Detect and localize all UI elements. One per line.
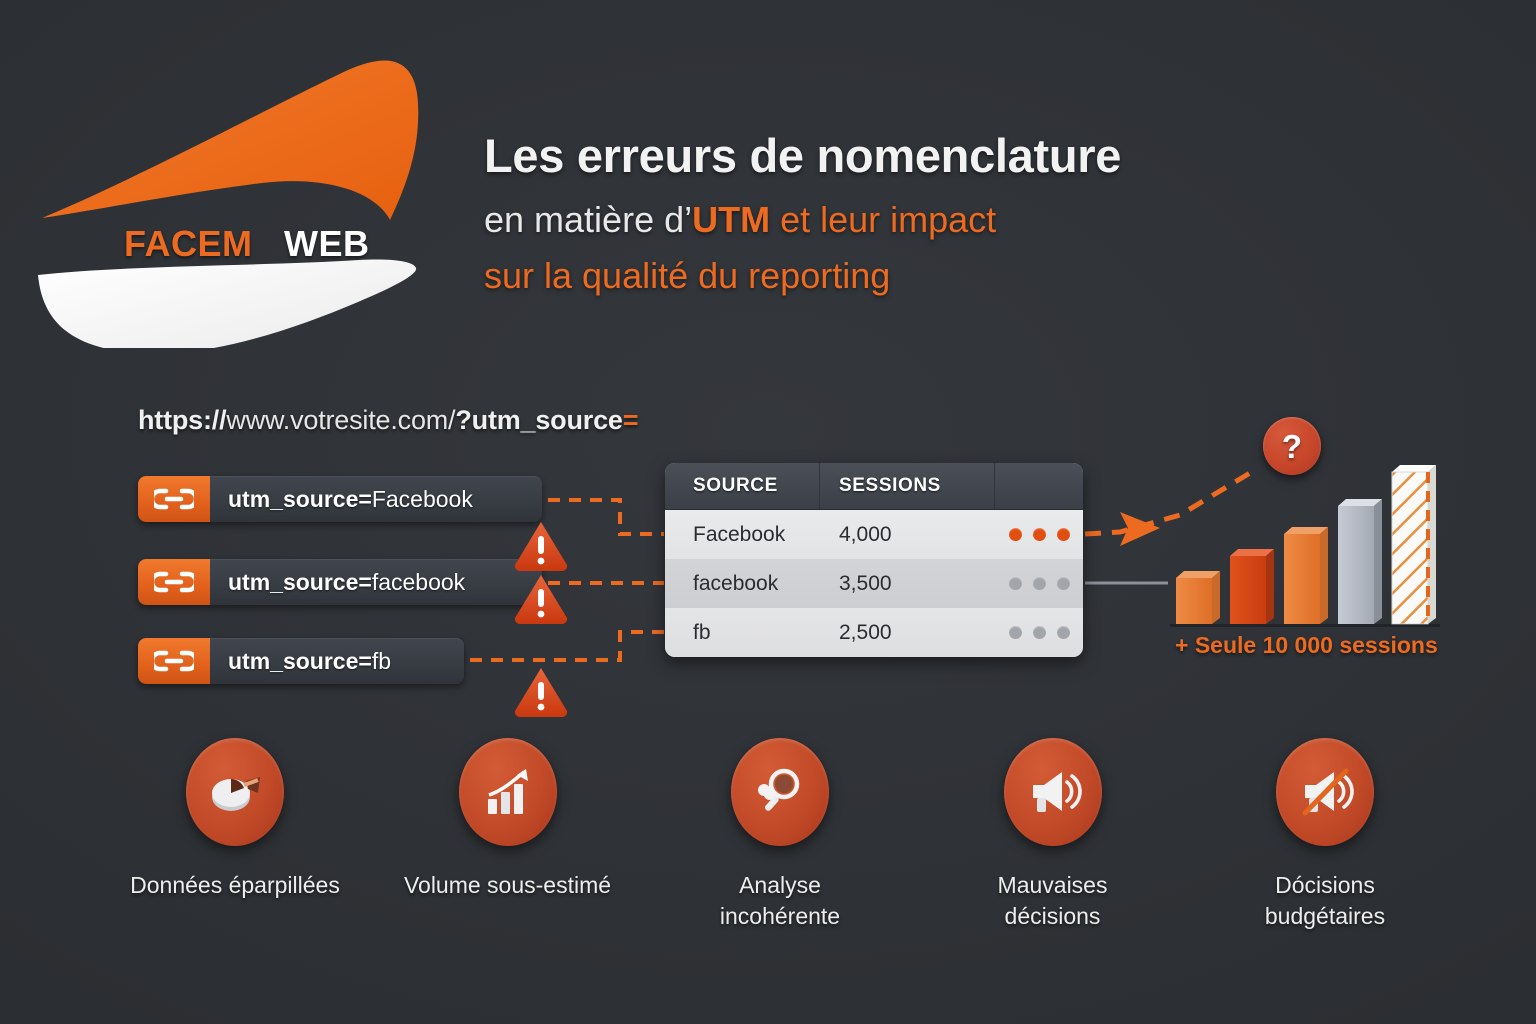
utm-keyword: UTM bbox=[692, 199, 770, 240]
url-equals: = bbox=[623, 405, 639, 435]
magnifier-puzzle-icon bbox=[731, 738, 829, 846]
consequence-label-1: Volume sous-estimé bbox=[404, 870, 611, 901]
megaphone-icon bbox=[1004, 738, 1102, 846]
utm-pill-label-0: utm_source=Facebook bbox=[210, 476, 489, 522]
cell-sessions: 3,500 bbox=[820, 572, 995, 596]
consequences-row: Données éparpillées Volume sous-estimé A… bbox=[120, 738, 1440, 948]
table-row[interactable]: facebook 3,500 bbox=[665, 559, 1083, 608]
row-dots-icon bbox=[1009, 577, 1070, 590]
utm-pill-label-1: utm_source=facebook bbox=[210, 559, 481, 605]
utm-pill-0[interactable]: utm_source=Facebook bbox=[138, 476, 542, 522]
consequence-item-4[interactable]: Dócisionsbudgétaires bbox=[1210, 738, 1440, 948]
subtitle-prefix: en matière d’ bbox=[484, 199, 692, 240]
chart-caption: + Seule 10 000 sessions bbox=[1175, 632, 1505, 659]
cell-actions bbox=[995, 626, 1083, 639]
brand-name-primary: FACEM bbox=[124, 223, 253, 264]
brand-wordmark: FACEM WEB bbox=[124, 223, 370, 265]
utm-pill-key-2: utm_source= bbox=[228, 648, 372, 675]
link-icon bbox=[138, 559, 210, 605]
cell-sessions: 4,000 bbox=[820, 523, 995, 547]
link-icon bbox=[138, 638, 210, 684]
row-dots-icon bbox=[1009, 528, 1070, 541]
consequence-label-2: Analyseincohérente bbox=[720, 870, 840, 932]
dashed-arrow-right-icon bbox=[1120, 512, 1160, 546]
brand-logo: FACEM WEB bbox=[18, 48, 438, 348]
sessions-bar-chart bbox=[1160, 448, 1460, 633]
utm-pill-value-0: Facebook bbox=[372, 486, 473, 513]
consequence-label-3: Mauvaisesdécisions bbox=[998, 870, 1108, 932]
bar-chart-svg bbox=[1160, 448, 1460, 633]
column-header-sessions: SESSIONS bbox=[820, 463, 995, 509]
sessions-table[interactable]: SOURCE SESSIONS Facebook 4,000 facebook … bbox=[665, 463, 1083, 657]
column-header-source: SOURCE bbox=[665, 463, 820, 509]
utm-pill-key-1: utm_source= bbox=[228, 569, 372, 596]
row-dots-icon bbox=[1009, 626, 1070, 639]
connector-pill-3 bbox=[470, 632, 664, 660]
megaphone-muted-icon bbox=[1276, 738, 1374, 846]
brand-name-secondary: WEB bbox=[284, 223, 370, 264]
url-query-key: ?utm_source bbox=[455, 405, 622, 435]
utm-pill-value-2: fb bbox=[372, 648, 391, 675]
warning-triangle-icon bbox=[512, 519, 570, 571]
warning-triangle-icon bbox=[512, 572, 570, 624]
link-icon bbox=[138, 476, 210, 522]
cell-actions bbox=[995, 577, 1083, 590]
consequence-item-3[interactable]: Mauvaisesdécisions bbox=[938, 738, 1168, 948]
url-host: www.votresite.com/ bbox=[226, 405, 455, 435]
table-row[interactable]: fb 2,500 bbox=[665, 608, 1083, 657]
utm-pill-label-2: utm_source=fb bbox=[210, 638, 407, 684]
page-subtitle: en matière d’UTM et leur impact bbox=[484, 197, 1304, 243]
utm-pill-value-1: facebook bbox=[372, 569, 465, 596]
column-header-actions bbox=[995, 463, 1083, 509]
utm-pill-2[interactable]: utm_source=fb bbox=[138, 638, 464, 684]
cell-source: Facebook bbox=[665, 523, 820, 547]
url-scheme: https:// bbox=[138, 405, 226, 435]
headline-block: Les erreurs de nomenclature en matière d… bbox=[484, 130, 1304, 299]
cell-sessions: 2,500 bbox=[820, 621, 995, 645]
consequence-item-0[interactable]: Données éparpillées bbox=[120, 738, 350, 948]
consequence-label-4: Dócisionsbudgétaires bbox=[1265, 870, 1385, 932]
consequence-label-0: Données éparpillées bbox=[130, 870, 340, 901]
subtitle-suffix: et leur impact bbox=[770, 199, 996, 240]
page-title: Les erreurs de nomenclature bbox=[484, 130, 1304, 183]
table-header-row: SOURCE SESSIONS bbox=[665, 463, 1083, 510]
cell-source: fb bbox=[665, 621, 820, 645]
example-url: https://www.votresite.com/?utm_source= bbox=[138, 405, 638, 436]
cell-actions bbox=[995, 528, 1083, 541]
facem-web-swoosh-logo bbox=[18, 48, 438, 348]
consequence-item-1[interactable]: Volume sous-estimé bbox=[393, 738, 623, 948]
utm-pill-1[interactable]: utm_source=facebook bbox=[138, 559, 542, 605]
consequence-item-2[interactable]: Analyseincohérente bbox=[665, 738, 895, 948]
cell-source: facebook bbox=[665, 572, 820, 596]
pie-chart-icon bbox=[186, 738, 284, 846]
utm-pill-key-0: utm_source= bbox=[228, 486, 372, 513]
warning-triangle-icon bbox=[512, 665, 570, 717]
bar-chart-growth-icon bbox=[459, 738, 557, 846]
table-row[interactable]: Facebook 4,000 bbox=[665, 510, 1083, 559]
page-subtitle-line3: sur la qualité du reporting bbox=[484, 253, 1304, 299]
